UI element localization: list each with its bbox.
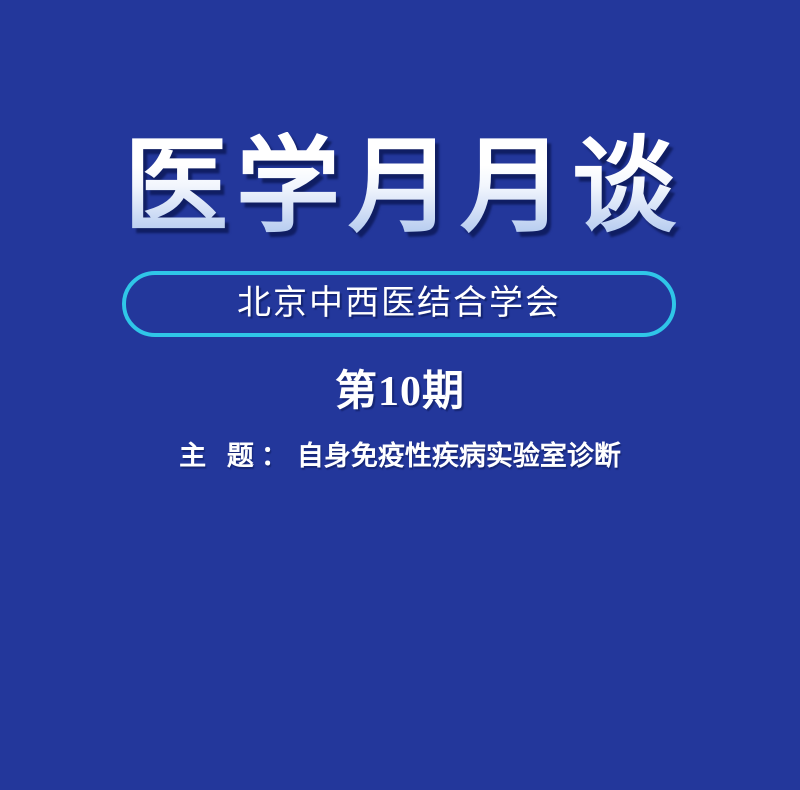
issue-number: 第10期 (335, 369, 465, 415)
empty-lower-area (0, 500, 800, 790)
organization-name: 北京中西医结合学会 (237, 287, 561, 321)
poster-canvas: 医学月月谈 北京中西医结合学会 第10期 主 题：自身免疫性疾病实验室诊断 (0, 0, 800, 790)
topic-block: 主 题：自身免疫性疾病实验室诊断 (0, 440, 800, 472)
topic-value: 自身免疫性疾病实验室诊断 (297, 441, 621, 471)
topic-label: 主 题： (179, 441, 297, 471)
page-title: 医学月月谈 (116, 132, 684, 244)
issue-block: 第10期 (0, 369, 800, 415)
title-block: 医学月月谈 (0, 132, 800, 244)
organization-pill: 北京中西医结合学会 (122, 271, 676, 337)
topic-line: 主 题：自身免疫性疾病实验室诊断 (179, 441, 621, 471)
